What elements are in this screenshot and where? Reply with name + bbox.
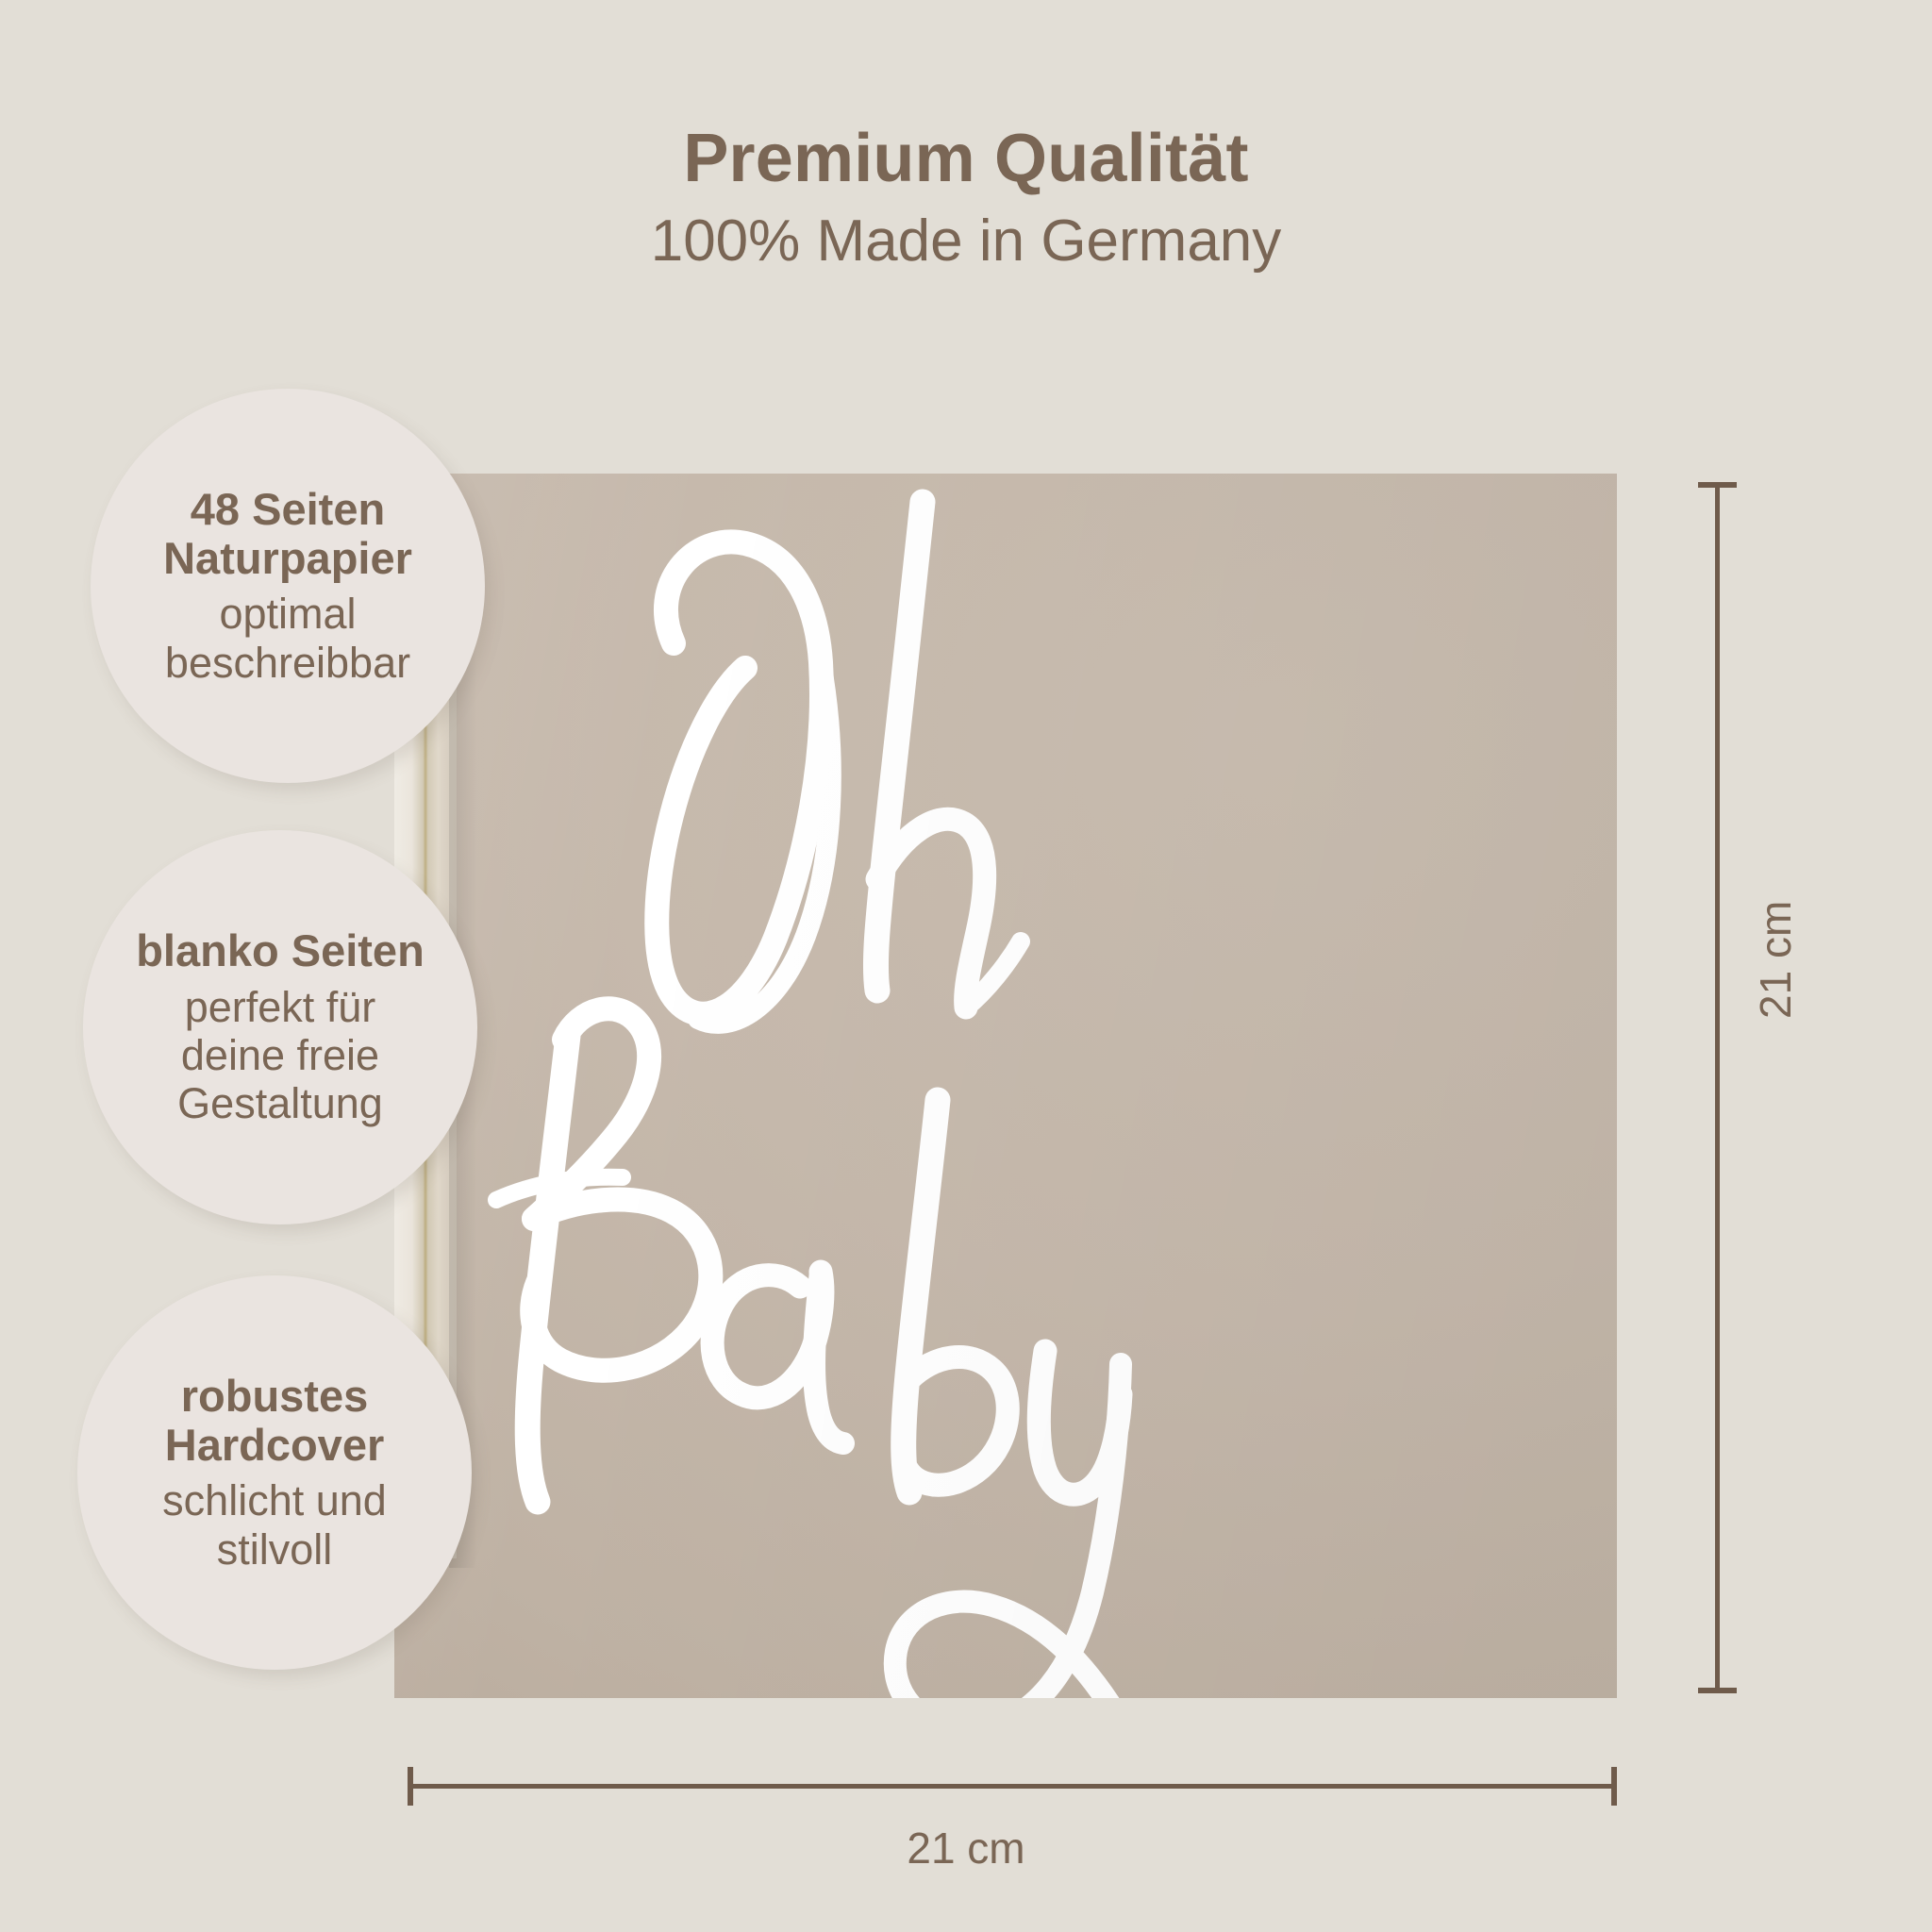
badge-title: 48 Seiten Naturpapier <box>163 485 412 582</box>
dimension-line-vertical <box>1715 484 1720 1691</box>
dimension-cap-bottom <box>1698 1688 1737 1693</box>
feature-badge-hardcover: robustes Hardcover schlicht und stilvoll <box>77 1275 472 1670</box>
badge-subtitle: schlicht und stilvoll <box>162 1476 387 1574</box>
dimension-label-height: 21 cm <box>1750 901 1801 1019</box>
dimension-line-horizontal <box>409 1784 1615 1789</box>
badge-subtitle: optimal beschreibbar <box>165 590 410 687</box>
badge-subtitle: perfekt für deine freie Gestaltung <box>177 983 383 1128</box>
badge-title: robustes Hardcover <box>165 1372 385 1469</box>
dimension-cap-left <box>408 1767 413 1806</box>
dimension-cap-right <box>1611 1767 1617 1806</box>
header-block: Premium Qualität 100% Made in Germany <box>0 121 1932 275</box>
product-photo-book-cover <box>394 474 1617 1698</box>
page-title: Premium Qualität <box>0 121 1932 197</box>
dimension-label-width: 21 cm <box>0 1823 1932 1874</box>
feature-badge-blank-pages: blanko Seiten perfekt für deine freie Ge… <box>83 830 477 1224</box>
infographic-canvas: Premium Qualität 100% Made in Germany <box>0 0 1932 1932</box>
dimension-cap-top <box>1698 482 1737 488</box>
badge-title: blanko Seiten <box>136 926 425 975</box>
feature-badge-pages: 48 Seiten Naturpapier optimal beschreibb… <box>91 389 485 783</box>
oh-baby-script-lettering <box>394 474 1617 1698</box>
page-subtitle: 100% Made in Germany <box>0 207 1932 275</box>
